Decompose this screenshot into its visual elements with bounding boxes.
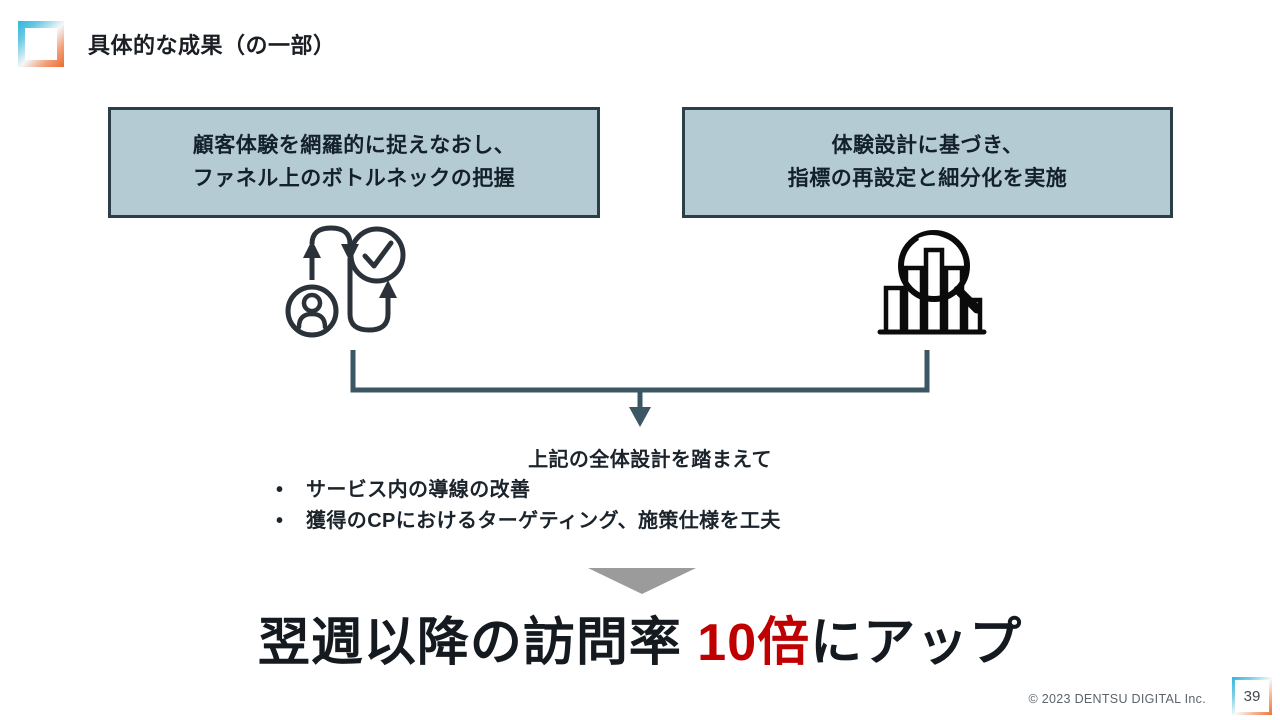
list-item-label: 獲得のCPにおけるターゲティング、施策仕様を工夫 bbox=[306, 506, 1030, 537]
summary-lead-text: 上記の全体設計を踏まえて bbox=[270, 445, 1030, 475]
concept-box-right: 体験設計に基づき、 指標の再設定と細分化を実施 bbox=[682, 107, 1173, 218]
bullet-icon: • bbox=[270, 475, 306, 506]
gradient-square-logo-icon bbox=[18, 21, 64, 67]
result-headline: 翌週以降の訪問率 10倍にアップ bbox=[0, 600, 1280, 675]
customer-journey-icon bbox=[285, 222, 407, 342]
concept-box-left-text: 顧客体験を網羅的に捉えなおし、 ファネル上のボトルネックの把握 bbox=[193, 130, 516, 195]
bullet-icon: • bbox=[270, 506, 306, 537]
list-item-label: サービス内の導線の改善 bbox=[306, 475, 1030, 506]
flow-connector-arrow bbox=[330, 335, 960, 435]
page-title: 具体的な成果（の一部） bbox=[88, 28, 336, 60]
bar-chart-magnifier-icon bbox=[876, 222, 988, 342]
concept-box-left: 顧客体験を網羅的に捉えなおし、 ファネル上のボトルネックの把握 bbox=[108, 107, 600, 218]
logo-inner-fill bbox=[25, 28, 57, 60]
list-item: • サービス内の導線の改善 bbox=[270, 475, 1030, 506]
page-number-badge: 39 bbox=[1232, 677, 1272, 715]
page-number-value: 39 bbox=[1235, 680, 1269, 712]
slide-canvas: 具体的な成果（の一部） 顧客体験を網羅的に捉えなおし、 ファネル上のボトルネック… bbox=[0, 0, 1280, 720]
slide-header: 具体的な成果（の一部） bbox=[0, 0, 1280, 90]
result-suffix: にアップ bbox=[810, 614, 1022, 672]
concept-box-right-text: 体験設計に基づき、 指標の再設定と細分化を実施 bbox=[788, 130, 1068, 195]
footer-copyright: © 2023 DENTSU DIGITAL Inc. bbox=[1029, 692, 1206, 706]
summary-block: 上記の全体設計を踏まえて • サービス内の導線の改善 • 獲得のCPにおけるター… bbox=[270, 445, 1030, 537]
list-item: • 獲得のCPにおけるターゲティング、施策仕様を工夫 bbox=[270, 506, 1030, 537]
result-prefix: 翌週以降の訪問率 bbox=[258, 614, 697, 672]
down-triangle-icon bbox=[588, 566, 696, 594]
result-emphasis: 10倍 bbox=[697, 614, 810, 672]
